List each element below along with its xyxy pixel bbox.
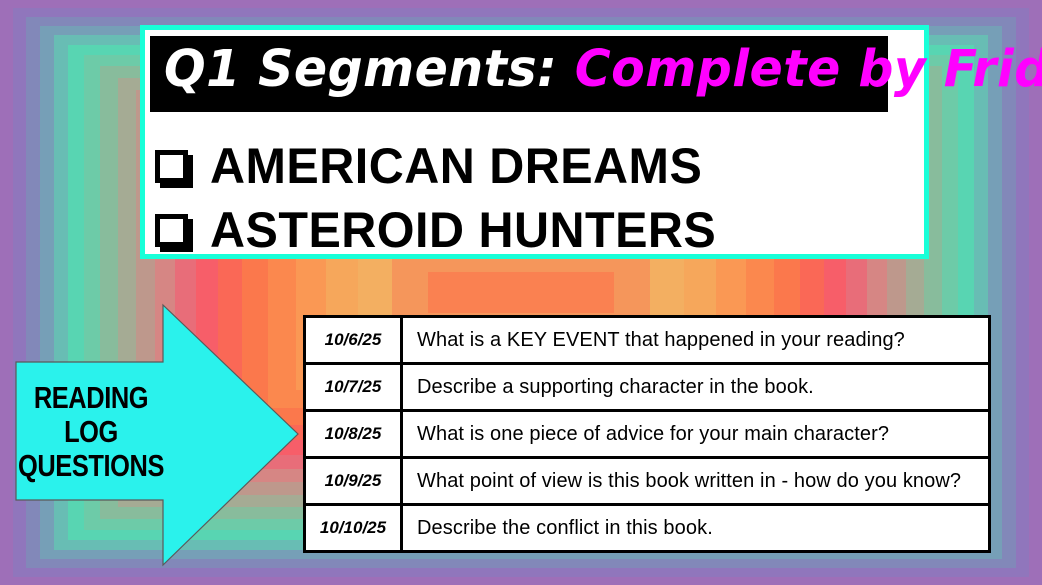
reading-log-table-body: 10/6/25What is a KEY EVENT that happened… (305, 317, 990, 552)
checkbox-icon[interactable] (155, 214, 188, 247)
log-date-cell: 10/8/25 (305, 411, 402, 458)
table-row: 10/8/25What is one piece of advice for y… (305, 411, 990, 458)
title-white-part: Q1 Segments: (164, 40, 575, 99)
arrow-label-line-3: QUESTIONS (18, 450, 164, 482)
title-banner: Q1 Segments: Complete by Friday (150, 36, 888, 112)
checklist-item-2-label: ASTEROID HUNTERS (210, 205, 716, 255)
checklist-item-1-label: AMERICAN DREAMS (210, 141, 702, 191)
table-row: 10/7/25Describe a supporting character i… (305, 364, 990, 411)
assignment-card: Q1 Segments: Complete by Friday AMERICAN… (140, 25, 929, 259)
checkbox-icon[interactable] (155, 150, 188, 183)
background-ring (428, 272, 614, 313)
arrow-label: READING LOG QUESTIONS (30, 362, 153, 502)
log-question-cell: What is a KEY EVENT that happened in you… (402, 317, 990, 364)
slide-canvas: READING LOG QUESTIONS Q1 Segments: Compl… (0, 0, 1042, 585)
log-date-cell: 10/9/25 (305, 458, 402, 505)
log-question-cell: Describe the conflict in this book. (402, 505, 990, 552)
log-question-cell: What point of view is this book written … (402, 458, 990, 505)
table-row: 10/9/25What point of view is this book w… (305, 458, 990, 505)
arrow-label-line-2: LOG (64, 416, 118, 448)
log-question-cell: What is one piece of advice for your mai… (402, 411, 990, 458)
page-title: Q1 Segments: Complete by Friday (164, 32, 1042, 108)
log-date-cell: 10/7/25 (305, 364, 402, 411)
log-date-cell: 10/6/25 (305, 317, 402, 364)
log-date-cell: 10/10/25 (305, 505, 402, 552)
table-row: 10/10/25Describe the conflict in this bo… (305, 505, 990, 552)
arrow-label-line-1: READING (34, 382, 148, 414)
checklist-item-2[interactable]: ASTEROID HUNTERS (155, 205, 732, 255)
log-question-cell: Describe a supporting character in the b… (402, 364, 990, 411)
table-row: 10/6/25What is a KEY EVENT that happened… (305, 317, 990, 364)
title-magenta-part: Complete by Friday (575, 40, 1042, 99)
checklist-item-1[interactable]: AMERICAN DREAMS (155, 141, 718, 191)
reading-log-table: 10/6/25What is a KEY EVENT that happened… (303, 315, 991, 553)
